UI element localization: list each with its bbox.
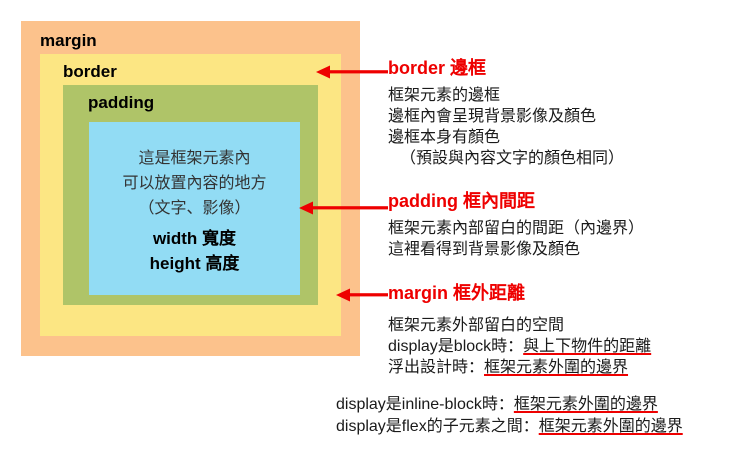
content-description-line-2: 可以放置內容的地方 xyxy=(89,171,300,196)
annotation-extra: display是inline-block時：框架元素外圍的邊界 display是… xyxy=(336,394,750,438)
annotation-extra-line-2-prefix: display是flex的子元素之間： xyxy=(336,418,539,435)
arrow-left-icon-border xyxy=(316,65,388,79)
box-model-diagram: margin border padding 這是框架元素內 可以放置內容的地方 … xyxy=(21,21,360,356)
content-height-label: height 高度 xyxy=(89,251,300,276)
annotation-padding: padding 框內間距 框架元素內部留白的間距（內邊界） 這裡看得到背景影像及… xyxy=(388,190,750,260)
annotation-margin-line-2: display是block時：與上下物件的距離 xyxy=(388,336,750,357)
annotation-border-line-4: （預設與內容文字的顏色相同） xyxy=(388,148,750,169)
content-description: 這是框架元素內 可以放置內容的地方 （文字、影像） xyxy=(89,146,300,221)
arrow-left-icon-margin xyxy=(336,288,388,302)
annotation-padding-line-2: 這裡看得到背景影像及顏色 xyxy=(388,239,750,260)
annotation-border: border 邊框 框架元素的邊框 邊框內會呈現背景影像及顏色 邊框本身有顏色 … xyxy=(388,57,750,169)
annotation-border-body: 框架元素的邊框 邊框內會呈現背景影像及顏色 邊框本身有顏色 （預設與內容文字的顏… xyxy=(388,85,750,169)
annotation-border-line-1: 框架元素的邊框 xyxy=(388,85,750,106)
annotation-margin-line-3-prefix: 浮出設計時： xyxy=(388,359,484,376)
annotation-margin-line-2-emphasis: 與上下物件的距離 xyxy=(523,338,651,355)
annotation-padding-body: 框架元素內部留白的間距（內邊界） 這裡看得到背景影像及顏色 xyxy=(388,218,750,260)
margin-layer-label: margin xyxy=(40,32,97,49)
annotation-border-line-2: 邊框內會呈現背景影像及顏色 xyxy=(388,106,750,127)
content-dimensions: width 寬度 height 高度 xyxy=(89,226,300,276)
annotation-extra-line-2-emphasis: 框架元素外圍的邊界 xyxy=(539,418,683,435)
content-description-line-3: （文字、影像） xyxy=(89,196,300,221)
annotation-border-line-3: 邊框本身有顏色 xyxy=(388,127,750,148)
content-layer: 這是框架元素內 可以放置內容的地方 （文字、影像） width 寬度 heigh… xyxy=(89,122,300,295)
border-layer-label: border xyxy=(63,63,117,80)
annotation-extra-line-1-emphasis: 框架元素外圍的邊界 xyxy=(514,396,658,413)
annotation-extra-line-1: display是inline-block時：框架元素外圍的邊界 xyxy=(336,394,750,416)
content-width-label: width 寬度 xyxy=(89,226,300,251)
annotation-margin-title: margin 框外距離 xyxy=(388,282,750,304)
annotation-margin-body: 框架元素外部留白的空間 display是block時：與上下物件的距離 浮出設計… xyxy=(388,315,750,378)
arrow-left-icon-padding xyxy=(299,201,388,215)
annotation-margin-line-3-emphasis: 框架元素外圍的邊界 xyxy=(484,359,628,376)
content-description-line-1: 這是框架元素內 xyxy=(89,146,300,171)
annotation-panel: border 邊框 框架元素的邊框 邊框內會呈現背景影像及顏色 邊框本身有顏色 … xyxy=(388,0,750,461)
annotation-border-title: border 邊框 xyxy=(388,57,750,79)
annotation-extra-line-1-prefix: display是inline-block時： xyxy=(336,396,514,413)
annotation-margin: margin 框外距離 框架元素外部留白的空間 display是block時：與… xyxy=(388,282,750,378)
annotation-padding-line-1: 框架元素內部留白的間距（內邊界） xyxy=(388,218,750,239)
annotation-margin-line-1: 框架元素外部留白的空間 xyxy=(388,315,750,336)
padding-layer-label: padding xyxy=(88,94,154,111)
annotation-margin-line-2-prefix: display是block時： xyxy=(388,338,523,355)
annotation-extra-line-2: display是flex的子元素之間：框架元素外圍的邊界 xyxy=(336,416,750,438)
annotation-margin-line-3: 浮出設計時：框架元素外圍的邊界 xyxy=(388,357,750,378)
annotation-padding-title: padding 框內間距 xyxy=(388,190,750,212)
